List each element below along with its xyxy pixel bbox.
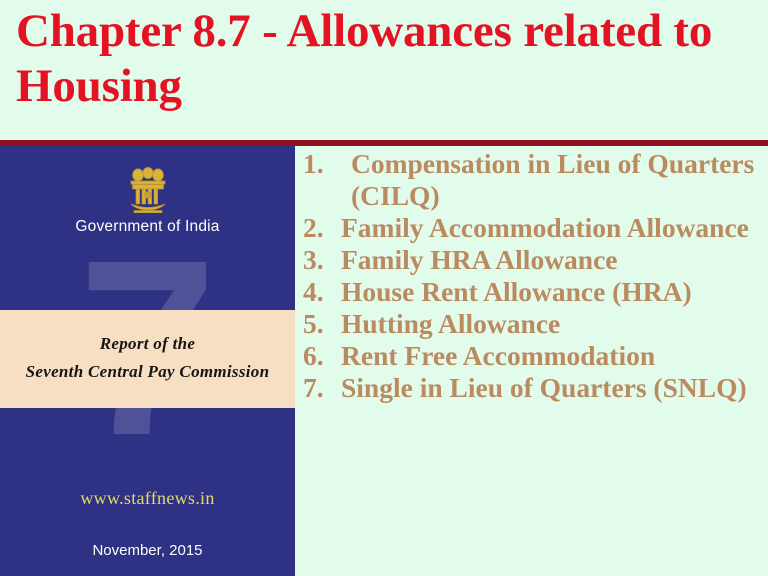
- report-cover-image: 7: [0, 146, 295, 576]
- list-item-label: Compensation in Lieu of Quarters (CILQ): [351, 148, 754, 211]
- list-item-label: Hutting Allowance: [341, 308, 560, 339]
- list-item-number: 7.: [303, 372, 337, 404]
- cover-report-line-1: Report of the: [0, 334, 295, 354]
- list-item-label: House Rent Allowance (HRA): [341, 276, 692, 307]
- list-item-number: 1.: [303, 148, 347, 180]
- list-item: 3.Family HRA Allowance: [303, 244, 768, 276]
- list-item: 6.Rent Free Accommodation: [303, 340, 768, 372]
- list-item: 7.Single in Lieu of Quarters (SNLQ): [303, 372, 768, 404]
- slide-root: Chapter 8.7 - Allowances related to Hous…: [0, 0, 768, 576]
- list-item-number: 3.: [303, 244, 337, 276]
- list-item: 5.Hutting Allowance: [303, 308, 768, 340]
- list-item-number: 5.: [303, 308, 337, 340]
- list-item-number: 6.: [303, 340, 337, 372]
- list-item-number: 4.: [303, 276, 337, 308]
- list-item-label: Family HRA Allowance: [341, 244, 618, 275]
- cover-title-band: Report of the Seventh Central Pay Commis…: [0, 310, 295, 408]
- cover-government-line: Government of India: [0, 218, 295, 236]
- cover-report-line-2: Seventh Central Pay Commission: [0, 362, 295, 382]
- list-item-label: Single in Lieu of Quarters (SNLQ): [341, 372, 747, 403]
- cover-website: www.staffnews.in: [0, 488, 295, 509]
- list-item: 2.Family Accommodation Allowance: [303, 212, 768, 244]
- page-title: Chapter 8.7 - Allowances related to Hous…: [16, 4, 738, 115]
- cover-date: November, 2015: [0, 542, 295, 559]
- state-emblem-of-india-icon: [0, 164, 295, 218]
- list-item-label: Family Accommodation Allowance: [341, 212, 749, 243]
- list-item-label: Rent Free Accommodation: [341, 340, 655, 371]
- list-item: 1.Compensation in Lieu of Quarters (CILQ…: [303, 148, 768, 212]
- list-item-number: 2.: [303, 212, 337, 244]
- allowances-list: 1.Compensation in Lieu of Quarters (CILQ…: [303, 148, 768, 404]
- list-item: 4.House Rent Allowance (HRA): [303, 276, 768, 308]
